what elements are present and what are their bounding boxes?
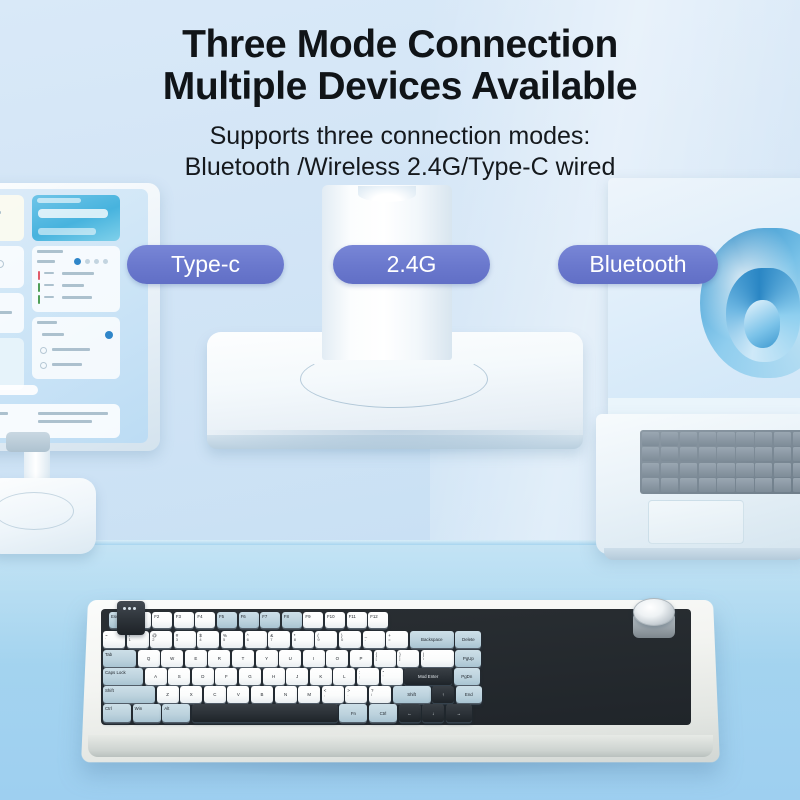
key-o[interactable]: O (326, 650, 348, 667)
key-x[interactable]: X (180, 686, 202, 703)
laptop-key[interactable] (680, 463, 697, 477)
laptop-key[interactable] (699, 447, 716, 461)
widget-side-card-2 (0, 246, 24, 288)
key-z[interactable]: Z (157, 686, 179, 703)
key-key[interactable]: $4 (197, 631, 219, 648)
laptop-key[interactable] (680, 432, 697, 446)
laptop-touchpad[interactable] (648, 500, 744, 544)
headline-line-2: Multiple Devices Available (0, 66, 800, 108)
monitor-stand-column-top (358, 186, 416, 202)
page-subtitle: Supports three connection modes: Bluetoo… (0, 121, 800, 183)
escape-key[interactable] (117, 601, 145, 635)
laptop-key[interactable] (661, 478, 678, 492)
key-end[interactable]: End (456, 686, 482, 703)
monitor-stand-shadow (200, 430, 592, 456)
key-key[interactable]: (9 (315, 631, 337, 648)
windows-bloom-core (744, 300, 780, 348)
key-l[interactable]: L (333, 668, 355, 685)
key-mod-enter[interactable]: Mod Enter (404, 668, 452, 685)
subtitle-line-2: Bluetooth /Wireless 2.4G/Type-C wired (0, 152, 800, 183)
key-v[interactable]: V (227, 686, 249, 703)
laptop-key[interactable] (736, 447, 753, 461)
laptop-key[interactable] (699, 478, 716, 492)
key-i[interactable]: I (303, 650, 325, 667)
laptop-taskbar[interactable]: 2026/05 AM 10:22 (608, 398, 800, 414)
laptop-key[interactable] (755, 447, 772, 461)
key-tab[interactable]: Tab (103, 650, 136, 667)
key-space[interactable] (192, 704, 338, 722)
key-backspace[interactable]: Backspace (410, 631, 454, 648)
key-f8[interactable]: F8 (282, 612, 302, 628)
laptop-key[interactable] (699, 432, 716, 446)
key-key[interactable]: %5 (221, 631, 243, 648)
laptop-key[interactable] (755, 463, 772, 477)
laptop-key[interactable] (793, 463, 800, 477)
key-f4[interactable]: F4 (195, 612, 215, 628)
laptop-key[interactable] (717, 463, 734, 477)
key-shift[interactable]: Shift (103, 686, 155, 703)
badge-bluetooth[interactable]: Bluetooth (558, 245, 718, 284)
product-banner: 2026/05 AM 10:22 Three Mode Connection M… (0, 0, 800, 800)
laptop-front-edge (604, 548, 800, 560)
key-key[interactable]: )0 (339, 631, 361, 648)
key-m[interactable]: M (298, 686, 320, 703)
laptop-key[interactable] (661, 447, 678, 461)
laptop-key[interactable] (736, 463, 753, 477)
laptop-key[interactable] (642, 478, 659, 492)
widget-side-card-1 (0, 195, 24, 241)
key-key[interactable]: &7 (268, 631, 290, 648)
laptop-key[interactable] (793, 432, 800, 446)
widget-side-card-4 (0, 338, 24, 390)
volume-knob[interactable] (633, 598, 675, 626)
key-key[interactable]: :; (357, 668, 379, 685)
laptop-key[interactable] (642, 463, 659, 477)
key-y[interactable]: Y (256, 650, 278, 667)
laptop-key[interactable] (736, 432, 753, 446)
key-f6[interactable]: F6 (239, 612, 259, 628)
key-key[interactable]: @2 (150, 631, 172, 648)
subtitle-line-1: Supports three connection modes: (210, 122, 591, 150)
key-key[interactable]: "' (381, 668, 403, 685)
laptop-key[interactable] (774, 463, 791, 477)
key-caps-lock[interactable]: Caps Lock (103, 668, 143, 685)
key-w[interactable]: W (161, 650, 183, 667)
key-shift[interactable]: Shift (393, 686, 431, 703)
key-g[interactable]: G (239, 668, 261, 685)
key-c[interactable]: C (204, 686, 226, 703)
laptop-key[interactable] (755, 432, 772, 446)
key-fn[interactable]: Fn (339, 704, 367, 722)
key-p[interactable]: P (350, 650, 372, 667)
key-key[interactable]: ?/ (369, 686, 391, 703)
laptop-key[interactable] (774, 432, 791, 446)
laptop-key[interactable] (717, 432, 734, 446)
key-k[interactable]: K (310, 668, 332, 685)
key-key[interactable]: ^6 (245, 631, 267, 648)
key-key[interactable]: _- (363, 631, 385, 648)
headline-line-1: Three Mode Connection (182, 23, 618, 66)
laptop-key[interactable] (774, 478, 791, 492)
laptop-key[interactable] (793, 447, 800, 461)
key-f9[interactable]: F9 (303, 612, 323, 628)
key-h[interactable]: H (263, 668, 285, 685)
widget-side-card-3 (0, 293, 24, 333)
laptop-keyboard[interactable] (640, 430, 800, 494)
key-key[interactable]: #3 (174, 631, 196, 648)
key-key[interactable]: → (446, 704, 472, 722)
key-e[interactable]: E (185, 650, 207, 667)
badge-type-c[interactable]: Type-c (127, 245, 284, 284)
keyboard-keys[interactable]: EscF1F2F3F4F5F6F7F8F9F10F11F12~`!1@2#3$4… (103, 610, 689, 724)
key-f[interactable]: F (215, 668, 237, 685)
key-key[interactable]: }] (397, 650, 419, 667)
key-u[interactable]: U (279, 650, 301, 667)
key-q[interactable]: Q (138, 650, 160, 667)
laptop-key[interactable] (642, 447, 659, 461)
key-f11[interactable]: F11 (347, 612, 367, 628)
key-ctrl[interactable]: Ctrl (369, 704, 397, 722)
key-alt[interactable]: Alt (162, 704, 190, 722)
key-ctrl[interactable]: Ctrl (103, 704, 131, 722)
laptop-key[interactable] (699, 463, 716, 477)
key-j[interactable]: J (286, 668, 308, 685)
key-key[interactable]: |\ (421, 650, 454, 667)
tablet-screen (0, 189, 148, 443)
laptop-key[interactable] (680, 478, 697, 492)
key-r[interactable]: R (208, 650, 230, 667)
page-title: Three Mode Connection Multiple Devices A… (0, 24, 800, 108)
widget-todo-card (32, 317, 120, 379)
keyboard-front-bezel (88, 735, 713, 757)
key-win[interactable]: Win (133, 704, 161, 722)
key-a[interactable]: A (145, 668, 167, 685)
key-t[interactable]: T (232, 650, 254, 667)
key-f7[interactable]: F7 (260, 612, 280, 628)
key-n[interactable]: N (275, 686, 297, 703)
key-key[interactable]: ← (399, 704, 421, 722)
laptop-key[interactable] (661, 463, 678, 477)
key-b[interactable]: B (251, 686, 273, 703)
widget-weather-card (32, 195, 120, 241)
laptop-key[interactable] (736, 478, 753, 492)
key-f2[interactable]: F2 (152, 612, 172, 628)
key-pgdn[interactable]: PgDn (454, 668, 480, 685)
laptop-key[interactable] (717, 478, 734, 492)
laptop-key[interactable] (717, 447, 734, 461)
widget-calendar-card (32, 246, 120, 312)
escape-key-indicator-icon (123, 607, 136, 610)
key-key[interactable]: ↓ (422, 704, 444, 722)
laptop-key[interactable] (793, 478, 800, 492)
laptop-key[interactable] (642, 432, 659, 446)
key-key[interactable]: ↑ (432, 686, 454, 703)
badge-2-4g[interactable]: 2.4G (333, 245, 490, 284)
laptop-key[interactable] (680, 447, 697, 461)
key-f10[interactable]: F10 (325, 612, 345, 628)
key-key[interactable]: <, (322, 686, 344, 703)
key-delete[interactable]: Delete (455, 631, 481, 648)
key-key[interactable]: *8 (292, 631, 314, 648)
key-d[interactable]: D (192, 668, 214, 685)
tablet-stand-clamp (6, 432, 50, 452)
key-f12[interactable]: F12 (368, 612, 388, 628)
laptop-key[interactable] (661, 432, 678, 446)
laptop-key[interactable] (774, 447, 791, 461)
add-widgets-button[interactable] (0, 385, 38, 395)
key-key[interactable]: >. (345, 686, 367, 703)
key-f3[interactable]: F3 (174, 612, 194, 628)
key-pgup[interactable]: PgUp (455, 650, 481, 667)
key-key[interactable]: {[ (374, 650, 396, 667)
laptop-key[interactable] (755, 478, 772, 492)
key-f5[interactable]: F5 (217, 612, 237, 628)
key-key[interactable]: += (386, 631, 408, 648)
key-s[interactable]: S (168, 668, 190, 685)
